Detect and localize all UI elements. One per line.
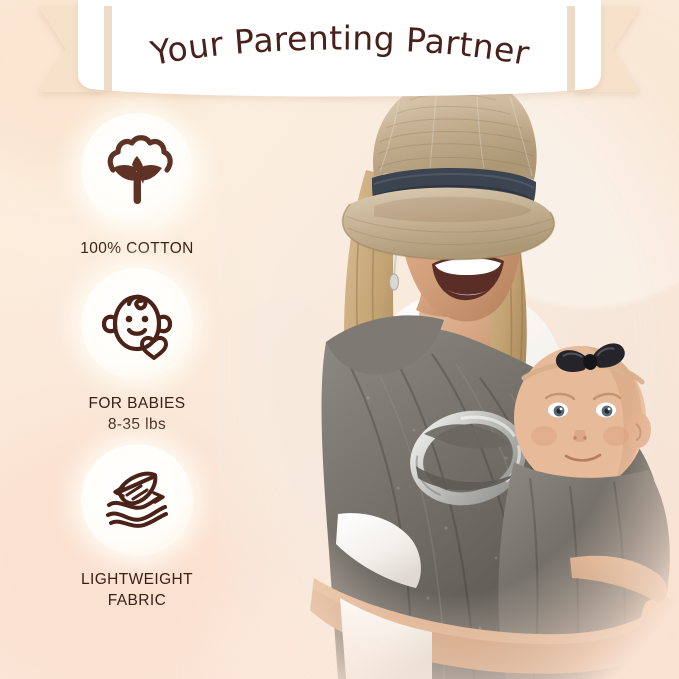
feature-badge-circle — [81, 113, 193, 225]
feather-fabric-icon — [97, 465, 177, 535]
feature-item-cotton: 100% COTTON — [62, 113, 212, 259]
feature-list: 100% COTTON — [62, 113, 212, 620]
feature-badge-circle — [81, 444, 193, 556]
infographic-canvas: Your Parenting Partner — [0, 0, 679, 679]
cotton-boll-icon — [98, 130, 176, 208]
product-photo — [218, 58, 679, 679]
feature-item-lightweight: LIGHTWEIGHT FABRIC — [62, 444, 212, 611]
feature-label-lightweight: LIGHTWEIGHT FABRIC — [62, 570, 212, 611]
feature-label-babies: FOR BABIES 8-35 lbs — [62, 394, 212, 435]
baby-face-icon — [98, 285, 176, 363]
feature-label-cotton: 100% COTTON — [62, 239, 212, 259]
feature-item-babies: FOR BABIES 8-35 lbs — [62, 268, 212, 435]
feature-badge-circle — [81, 268, 193, 380]
banner-ribbon — [0, 0, 679, 112]
